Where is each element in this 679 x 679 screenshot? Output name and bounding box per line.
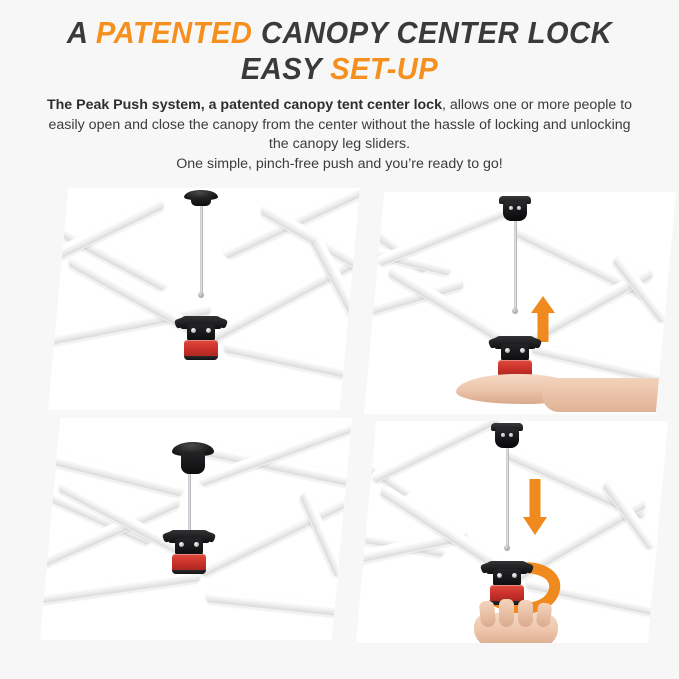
finger [479,600,497,627]
frame-bar [223,340,360,388]
lock-bolt [206,328,211,333]
lock-bolt [505,348,510,353]
page-title-line-2: EASY SET-UP [47,52,633,85]
finger [499,599,514,627]
lock-bolt [497,573,502,578]
red-drum [184,340,218,360]
top-hub-body [495,428,519,448]
peak-cap [172,442,214,476]
canopy-frame-scene [356,421,668,643]
forearm [542,378,676,412]
top-hub-bolt [509,206,513,210]
peak-cap-body [191,197,211,206]
rod-tip [198,292,204,298]
top-hub [498,196,532,222]
panel-grid [0,178,679,644]
frame-bar [513,225,654,302]
lock-bolt [512,573,517,578]
rod-tip [504,545,510,551]
frame-bar [205,590,352,621]
header: A PATENTED CANOPY CENTER LOCK EASY SET-U… [0,0,679,174]
description-paragraph: The Peak Push system, a patented canopy … [40,96,640,174]
canopy-frame-scene [48,188,360,410]
top-hub-bolt [509,433,513,437]
lock-bolt [520,348,525,353]
finger [518,600,533,627]
lock-bolt [191,328,196,333]
center-rod [188,472,191,534]
center-rod [514,218,517,312]
lock-bolt [194,542,199,547]
title-rest-line-1: CANOPY CENTER LOCK [252,15,612,50]
center-rod [506,445,509,549]
description-bold-lead: The Peak Push system, a patented canopy … [47,97,442,113]
panel-top-right [364,192,676,414]
infographic-root: A PATENTED CANOPY CENTER LOCK EASY SET-U… [0,0,679,679]
open-palm-hand [456,370,676,414]
panel-bottom-left [40,418,352,640]
down-arrow-icon [522,479,548,535]
top-hub-body [503,201,527,221]
page-title-line-1: A PATENTED CANOPY CENTER LOCK [47,16,633,49]
lock-bolt [179,542,184,547]
panel-bottom-right [356,421,668,643]
rod-tip [512,308,518,314]
title-word-a: A [67,15,96,50]
center-rod [200,204,203,296]
peak-cap [184,190,218,205]
title-word-patented: PATENTED [96,15,252,50]
panel-top-left [48,188,360,410]
peak-cap-body [181,452,205,474]
center-lock-hub [166,530,212,576]
center-lock-hub [178,316,224,362]
title-word-easy: EASY [241,51,330,86]
red-drum [172,554,206,574]
canopy-frame-scene [40,418,352,640]
frame-bar [369,421,500,484]
top-hub [490,423,524,449]
canopy-frame-scene [364,192,676,414]
top-hub-bolt [517,206,521,210]
title-word-setup: SET-UP [330,51,438,86]
top-hub-bolt [501,433,505,437]
description-closing: One simple, pinch-free push and you’re r… [176,156,503,172]
gripping-hand [468,599,578,643]
